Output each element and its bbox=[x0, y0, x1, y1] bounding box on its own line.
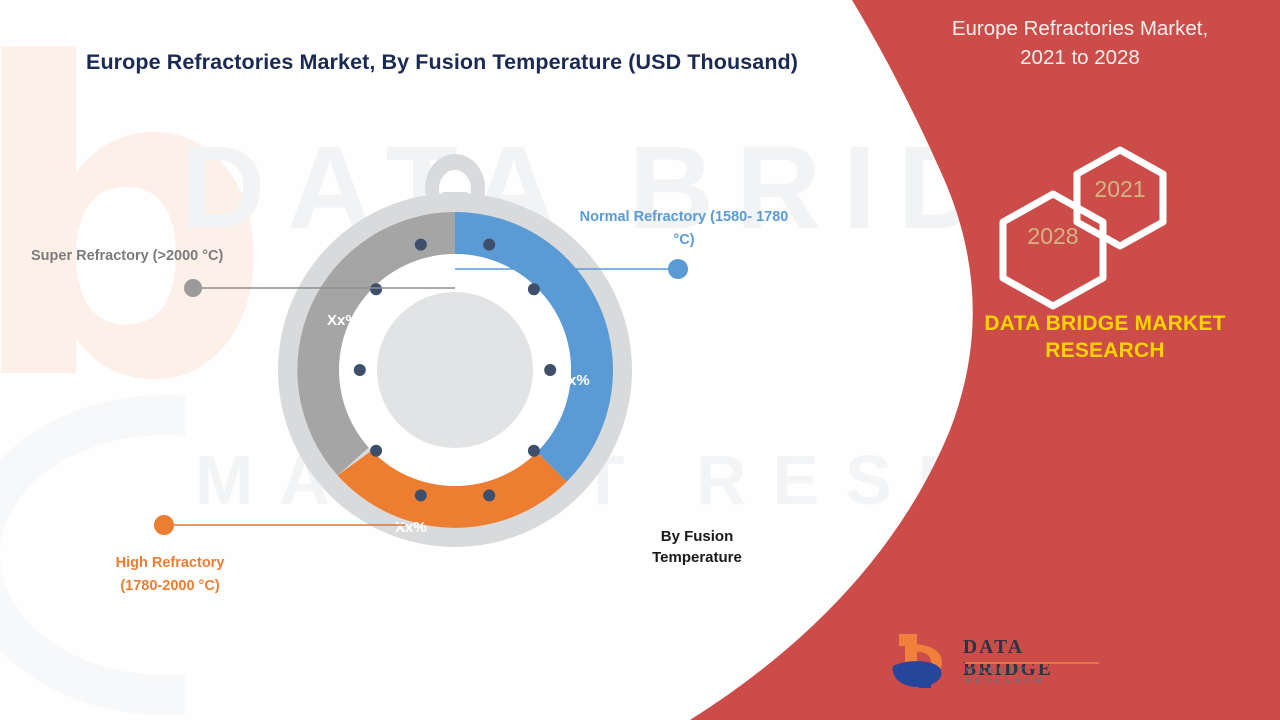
dbmr-logo[interactable]: DATA BRIDGE MARKET RESEARCH bbox=[895, 628, 1105, 700]
logo-secondary-text: MARKET RESEARCH bbox=[965, 665, 1105, 685]
hexagon-outline-2028 bbox=[1003, 194, 1103, 306]
brand-name: DATA BRIDGE MARKET RESEARCH bbox=[955, 310, 1255, 364]
logo-mark-icon bbox=[891, 630, 961, 694]
donut-center-disc bbox=[377, 292, 533, 448]
callout-normal-refractory: Normal Refractory (1580- 1780 °C) bbox=[578, 206, 790, 252]
callout-super-refractory: Super Refractory (>2000 °C) bbox=[31, 248, 223, 264]
panel-title-line2: 2021 to 2028 bbox=[905, 43, 1255, 72]
brand-name-line1: DATA BRIDGE MARKET bbox=[955, 310, 1255, 337]
callout-normal-line1: Normal Refractory (1580- bbox=[580, 209, 752, 225]
infographic-canvas: b DATA BRIDGE MARKET RESEARCH Europe Ref… bbox=[0, 0, 1280, 720]
callout-high-line2: (1780-2000 °C) bbox=[120, 578, 219, 594]
pct-label-super-refractory: Xx% bbox=[327, 312, 359, 329]
hexagon-year-2028[interactable]: 2028 bbox=[995, 190, 1111, 310]
leader-dot-normal[interactable] bbox=[668, 259, 688, 279]
pct-label-high-refractory: Xx% bbox=[395, 519, 427, 536]
pct-label-normal-refractory: Xx% bbox=[558, 372, 590, 389]
chart-title: Europe Refractories Market, By Fusion Te… bbox=[86, 50, 798, 75]
brand-name-line2: RESEARCH bbox=[955, 337, 1255, 364]
logo-divider bbox=[965, 662, 1099, 664]
donut-center-label: By Fusion Temperature bbox=[627, 526, 767, 568]
hexagon-label-2028: 2028 bbox=[995, 223, 1111, 250]
center-label-line2: Temperature bbox=[652, 549, 742, 566]
panel-title: Europe Refractories Market, 2021 to 2028 bbox=[905, 14, 1255, 72]
center-label-line1: By Fusion bbox=[661, 528, 734, 545]
callout-high-refractory: High Refractory (1780-2000 °C) bbox=[104, 552, 236, 598]
callout-high-line1: High Refractory bbox=[116, 555, 225, 571]
panel-title-line1: Europe Refractories Market, bbox=[905, 14, 1255, 43]
